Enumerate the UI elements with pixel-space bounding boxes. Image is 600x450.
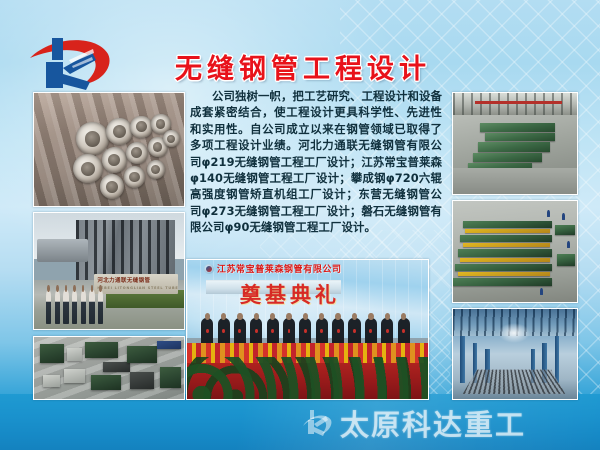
photo-factory-entrance: 河北力通联无缝钢管 HEBEI LITONGLIAN STEEL TUBE — [33, 212, 185, 330]
workshop-roof — [453, 93, 577, 115]
banner-company-logo-icon — [204, 264, 214, 274]
daylight-glare — [498, 323, 530, 343]
overhead-crane-rail — [475, 101, 562, 104]
photo-steel-pipe-bundle — [33, 92, 185, 207]
photo-equipment-assembly-yard — [452, 200, 578, 303]
factory-building — [76, 220, 175, 280]
entrance-canopy — [37, 239, 88, 262]
photo-warehouse-interior — [452, 308, 578, 400]
people-group — [45, 283, 117, 325]
banner-company-name: 江苏常宝普莱森钢管有限公司 — [217, 262, 342, 275]
photo-production-line — [452, 92, 578, 195]
photo-machinery-yard — [33, 336, 185, 400]
photo-groundbreaking-ceremony: 奠基典礼 江苏常宝普莱森钢管有限公司 — [186, 259, 429, 400]
pipe-cooling-bed — [463, 370, 565, 394]
bottom-color-band — [0, 394, 600, 450]
poster-page: 无缝钢管工程设计 公司独树一帜，把工艺研究、工程设计和设备成套紧密结合，使工程设… — [0, 0, 600, 450]
page-title: 无缝钢管工程设计 — [128, 47, 478, 86]
banner-company-line: 江苏常宝普莱森钢管有限公司 — [204, 262, 342, 275]
banner-headline-text: 奠基典礼 — [240, 279, 340, 309]
body-paragraph: 公司独树一帜，把工艺研究、工程设计和设备成套紧密结合，使工程设计更具科学性、先进… — [190, 88, 442, 236]
brand-logo — [22, 32, 118, 94]
potted-plants-row — [187, 357, 428, 399]
workshop-floor — [453, 168, 577, 194]
